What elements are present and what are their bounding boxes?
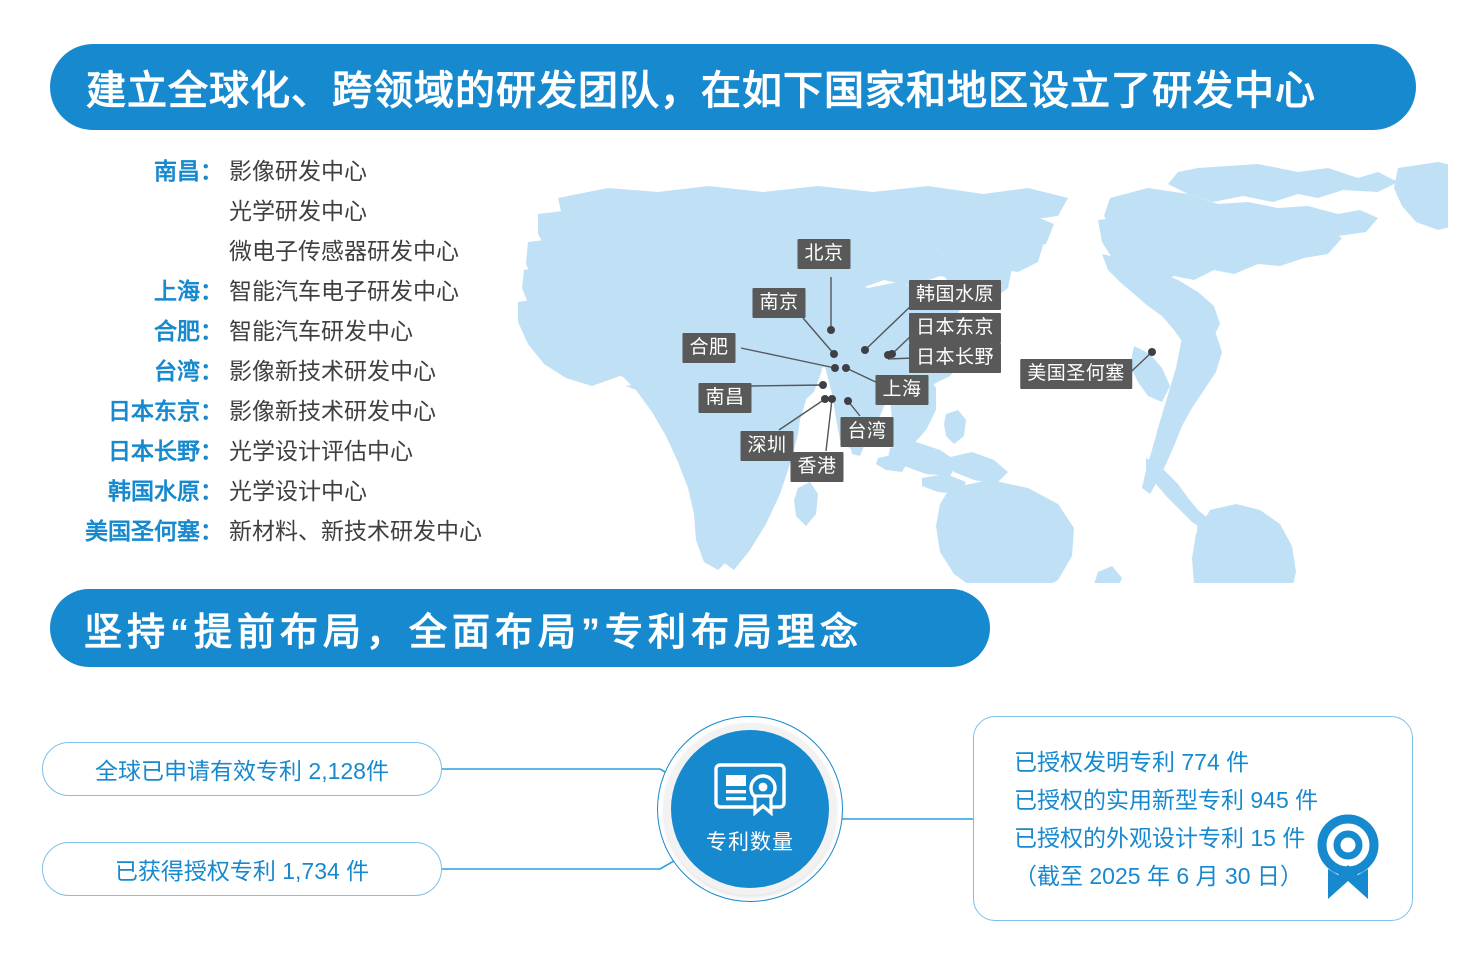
map-label: 南京 — [752, 288, 805, 318]
medal-icon — [1312, 813, 1384, 906]
rd-center-name: 光学设计评估中心 — [229, 432, 413, 466]
patent-detail-panel: 已授权发明专利 774 件已授权的实用新型专利 945 件已授权的外观设计专利 … — [973, 716, 1413, 921]
badge-label: 专利数量 — [706, 826, 794, 856]
rd-center-colon: ： — [200, 312, 229, 346]
rd-center-colon: ： — [200, 512, 229, 546]
pill-applied-patents-text: 全球已申请有效专利 2,128件 — [95, 752, 389, 786]
map-label: 韩国水原 — [909, 280, 1001, 310]
map-label: 日本长野 — [909, 343, 1001, 373]
banner-patent-strategy: 坚持“提前布局，全面布局”专利布局理念 — [50, 589, 990, 667]
map-label: 日本东京 — [909, 313, 1001, 343]
rd-center-row: 上海：智能汽车电子研发中心 — [30, 272, 490, 312]
rd-center-row: 台湾：影像新技术研发中心 — [30, 352, 490, 392]
rd-center-name: 智能汽车研发中心 — [229, 312, 413, 346]
rd-center-city: 合肥 — [30, 312, 200, 346]
rd-center-row: ：微电子传感器研发中心 — [30, 232, 490, 272]
banner-patent-strategy-text: 坚持“提前布局，全面布局”专利布局理念 — [84, 601, 863, 656]
rd-center-row: 合肥：智能汽车研发中心 — [30, 312, 490, 352]
rd-center-colon: ： — [200, 472, 229, 506]
rd-center-name: 智能汽车电子研发中心 — [229, 272, 459, 306]
map-label: 南昌 — [698, 383, 751, 413]
rd-center-row: 南昌：影像研发中心 — [30, 152, 490, 192]
map-label: 台湾 — [840, 417, 893, 447]
map-label: 美国圣何塞 — [1020, 359, 1132, 389]
patent-detail-line: （截至 2025 年 6 月 30 日） — [1014, 857, 1318, 895]
badge-disc: 专利数量 — [671, 730, 829, 888]
rd-center-row: 日本东京：影像新技术研发中心 — [30, 392, 490, 432]
map-label: 北京 — [797, 239, 850, 269]
banner-rd-centers: 建立全球化、跨领域的研发团队，在如下国家和地区设立了研发中心 — [50, 44, 1416, 130]
map-label: 深圳 — [740, 431, 793, 461]
map-label-layer: 北京南京合肥南昌深圳香港台湾上海韩国水原日本东京日本长野美国圣何塞 — [498, 158, 1448, 583]
pill-granted-patents: 已获得授权专利 1,734 件 — [42, 842, 442, 896]
rd-center-row: 美国圣何塞：新材料、新技术研发中心 — [30, 512, 490, 552]
rd-center-city: 日本东京 — [30, 392, 200, 426]
rd-center-city: 日本长野 — [30, 432, 200, 466]
rd-center-row: ：光学研发中心 — [30, 192, 490, 232]
patent-detail-line: 已授权发明专利 774 件 — [1014, 743, 1318, 781]
rd-center-colon: ： — [200, 352, 229, 386]
rd-center-name: 光学设计中心 — [229, 472, 367, 506]
rd-center-name: 微电子传感器研发中心 — [229, 232, 459, 266]
map-label: 香港 — [790, 452, 843, 482]
rd-center-list: 南昌：影像研发中心 ：光学研发中心 ：微电子传感器研发中心上海：智能汽车电子研发… — [30, 152, 490, 552]
rd-center-city: 美国圣何塞 — [30, 512, 200, 546]
rd-center-city: 台湾 — [30, 352, 200, 386]
pill-applied-patents: 全球已申请有效专利 2,128件 — [42, 742, 442, 796]
map-label: 上海 — [875, 375, 928, 405]
certificate-icon — [713, 762, 787, 816]
rd-center-city: 韩国水原 — [30, 472, 200, 506]
rd-center-name: 影像研发中心 — [229, 152, 367, 186]
world-map: 北京南京合肥南昌深圳香港台湾上海韩国水原日本东京日本长野美国圣何塞 — [498, 158, 1448, 583]
rd-center-colon: ： — [200, 152, 229, 186]
patent-count-badge: 专利数量 — [657, 716, 843, 902]
map-label: 合肥 — [682, 333, 735, 363]
banner-rd-centers-text: 建立全球化、跨领域的研发团队，在如下国家和地区设立了研发中心 — [86, 58, 1316, 116]
rd-center-row: 日本长野：光学设计评估中心 — [30, 432, 490, 472]
rd-center-city: 南昌 — [30, 152, 200, 186]
patent-detail-line: 已授权的外观设计专利 15 件 — [1014, 819, 1318, 857]
rd-center-name: 新材料、新技术研发中心 — [229, 512, 482, 546]
rd-center-colon: ： — [200, 432, 229, 466]
rd-center-colon: ： — [200, 272, 229, 306]
patent-detail-lines: 已授权发明专利 774 件已授权的实用新型专利 945 件已授权的外观设计专利 … — [1014, 743, 1318, 895]
rd-center-name: 影像新技术研发中心 — [229, 392, 436, 426]
rd-center-row: 韩国水原：光学设计中心 — [30, 472, 490, 512]
rd-center-name: 光学研发中心 — [229, 192, 367, 226]
rd-center-city: 上海 — [30, 272, 200, 306]
patent-detail-line: 已授权的实用新型专利 945 件 — [1014, 781, 1318, 819]
rd-center-name: 影像新技术研发中心 — [229, 352, 436, 386]
pill-granted-patents-text: 已获得授权专利 1,734 件 — [115, 852, 369, 886]
infographic-page: 建立全球化、跨领域的研发团队，在如下国家和地区设立了研发中心 南昌：影像研发中心… — [0, 0, 1459, 973]
rd-center-colon: ： — [200, 392, 229, 426]
